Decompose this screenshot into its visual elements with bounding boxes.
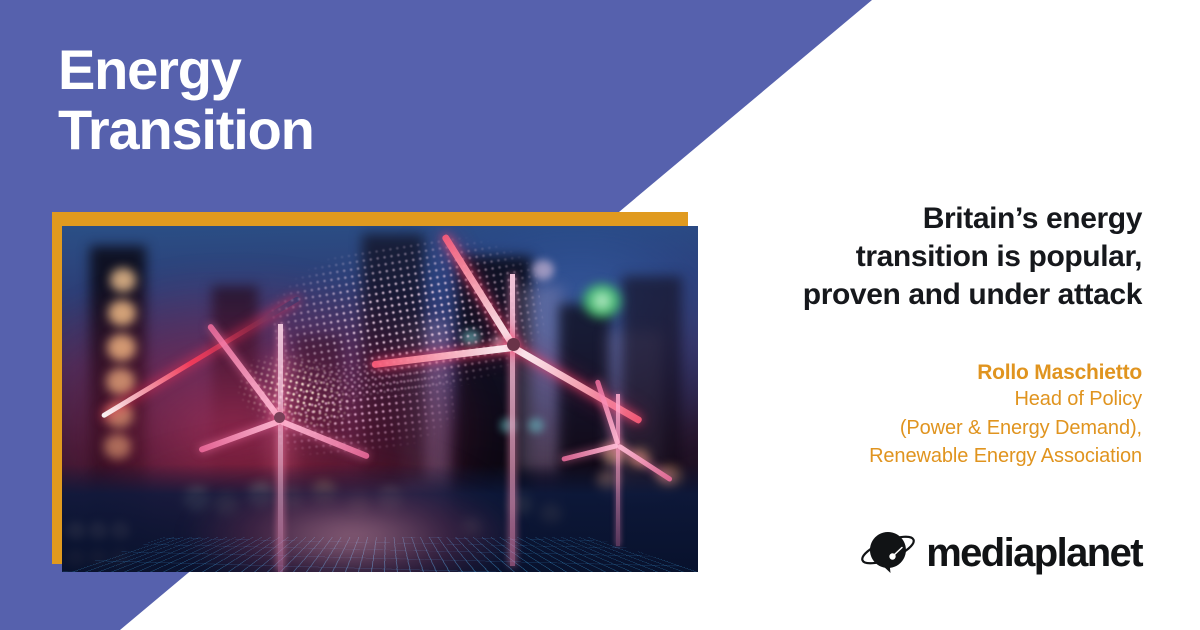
turbine-blade [207,323,283,421]
mediaplanet-wordmark: mediaplanet [926,533,1142,573]
author-name: Rollo Maschietto [712,361,1142,385]
photo-wind-turbine [584,366,694,546]
article-text-column: Britain’s energy transition is popular, … [712,200,1142,471]
author-role-line-3: Renewable Energy Association [712,442,1142,470]
photo-bokeh-light [107,334,136,361]
photo-bokeh-light [110,268,136,292]
photo-bokeh-light [104,434,131,459]
headline-line-3: proven and under attack [712,276,1142,314]
turbine-blade [279,418,370,460]
author-role-line-2: (Power & Energy Demand), [712,414,1142,442]
headline-line-2: transition is popular, [712,238,1142,276]
campaign-title-line1: Energy [58,40,314,100]
hero-photo [62,226,698,572]
saturn-planet-icon [859,526,917,580]
turbine-hub [274,412,285,423]
campaign-title-line2: Transition [58,100,314,160]
campaign-title: Energy Transition [58,40,314,160]
author-byline: Rollo Maschietto Head of Policy (Power &… [712,361,1142,470]
photo-bokeh-light [106,368,135,395]
headline-line-1: Britain’s energy [712,200,1142,238]
hero-image-block [52,212,702,577]
turbine-hub [507,338,520,351]
turbine-blade [617,443,673,482]
mediaplanet-logo[interactable]: mediaplanet [859,526,1142,580]
photo-wind-turbine [212,296,412,572]
author-role-line-1: Head of Policy [712,385,1142,413]
photo-bokeh-light [108,300,136,326]
turbine-mast [510,274,515,566]
poster-canvas: Energy Transition [0,0,1200,630]
turbine-mast [616,394,620,546]
turbine-mast [278,324,283,572]
article-headline: Britain’s energy transition is popular, … [712,200,1142,313]
